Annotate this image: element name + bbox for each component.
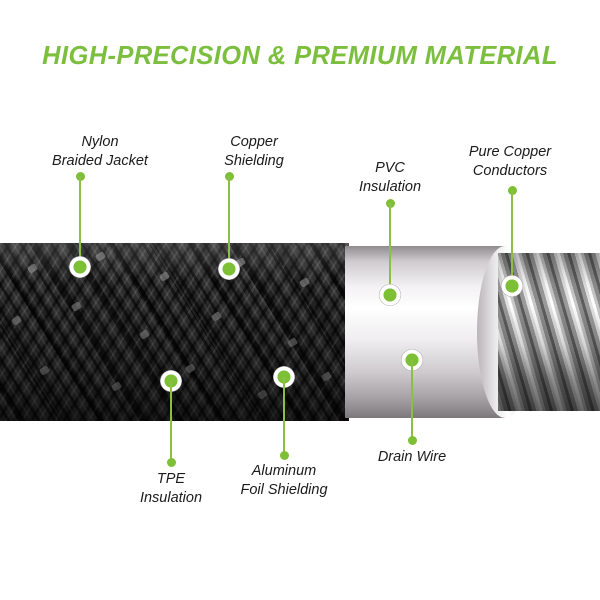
jacket-shading [0,243,349,421]
pvc-insulation-leader-line [389,203,391,295]
page-title: HIGH-PRECISION & PREMIUM MATERIAL [0,42,600,71]
aluminum-foil-shielding-leader-dot [280,451,289,460]
label-pure-copper-conductors: Pure Copper Conductors [420,143,600,180]
copper-shielding-marker [218,258,240,280]
label-drain-wire: Drain Wire [322,448,502,467]
nylon-braided-jacket-marker [69,256,91,278]
nylon-braided-jacket-leader-line [79,176,81,267]
drain-wire-leader-dot [408,436,417,445]
tpe-insulation-leader-line [170,381,172,462]
pvc-insulation-marker [379,284,401,306]
copper-shielding-leader-line [228,176,230,269]
label-nylon-braided-jacket: Nylon Braided Jacket [10,133,190,170]
label-aluminum-foil-shielding: Aluminum Foil Shielding [194,462,374,499]
infographic-canvas: HIGH-PRECISION & PREMIUM MATERIAL [0,0,600,600]
pure-copper-conductors-leader-line [511,190,513,286]
pure-copper-conductors-marker [501,275,523,297]
drain-wire-leader-line [411,360,413,440]
tpe-insulation-leader-dot [167,458,176,467]
aluminum-foil-shielding-leader-line [283,377,285,455]
